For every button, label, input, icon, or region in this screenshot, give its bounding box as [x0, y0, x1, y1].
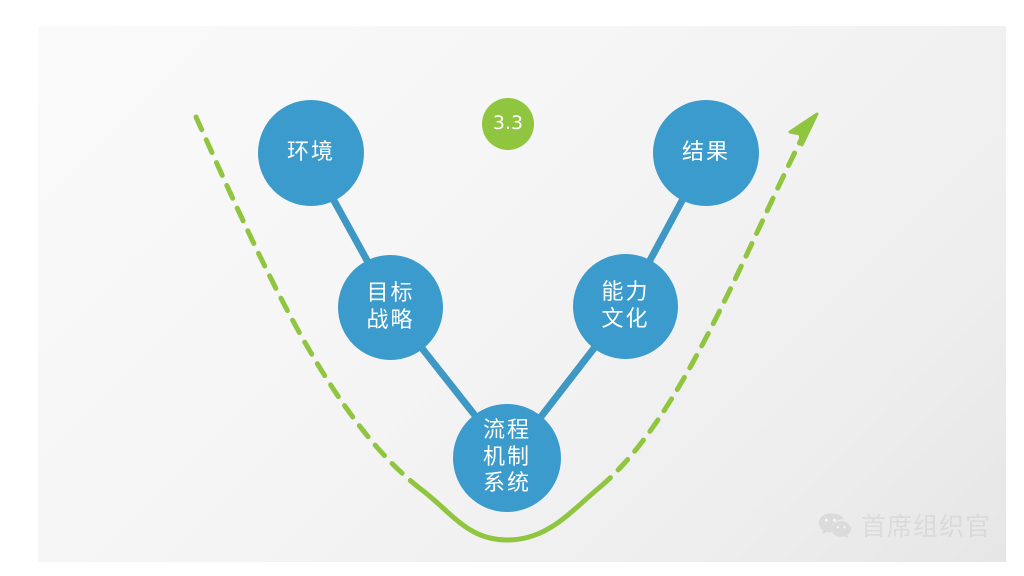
node-mubiao-line-2: 战略 [366, 308, 414, 335]
node-mubiao-zhanlue[interactable]: 目标 战略 [338, 255, 443, 360]
node-liucheng-line-1: 流程 [483, 418, 531, 445]
node-jieguo-line-1: 结果 [682, 140, 730, 167]
node-liucheng-line-3: 系统 [483, 471, 531, 498]
wechat-icon [818, 512, 852, 540]
node-nengli-line-1: 能力 [601, 280, 649, 307]
node-liucheng-jizhi-xitong[interactable]: 流程 机制 系统 [453, 404, 561, 512]
section-number-badge: 3.3 [482, 98, 534, 150]
node-nengli-line-2: 文化 [601, 307, 649, 334]
node-nengli-wenhua[interactable]: 能力 文化 [573, 254, 678, 359]
node-mubiao-line-1: 目标 [366, 281, 414, 308]
slide-root: 环境 目标 战略 流程 机制 系统 能力 文化 结果 3.3 首席组织官 [0, 0, 1024, 576]
node-huanjing-line-1: 环境 [287, 140, 335, 167]
section-number-label: 3.3 [493, 112, 523, 135]
node-jieguo[interactable]: 结果 [653, 100, 759, 206]
watermark: 首席组织官 [818, 512, 991, 540]
watermark-text: 首席组织官 [861, 514, 991, 539]
node-liucheng-line-2: 机制 [483, 445, 531, 472]
node-huanjing[interactable]: 环境 [258, 100, 364, 206]
